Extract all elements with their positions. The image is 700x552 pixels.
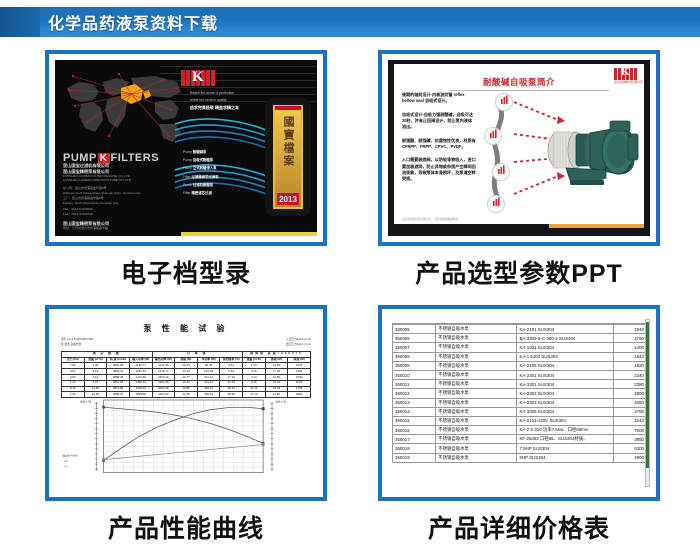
cell-price: 4760 <box>613 334 646 343</box>
cell-code: 360019 <box>393 453 436 462</box>
cell-price: 2800 <box>613 389 646 398</box>
cell-model: KA-2 5-310 功率7.5kw、口径65mm <box>517 426 614 435</box>
cell-model: KA-1001 SUS304 <box>517 343 614 352</box>
slogan-en-2: refine our service quality <box>190 97 239 104</box>
ppt-paragraph: 後期的轴封设计-内装波纹管 reflex bellow seal 自吸式设计。 <box>402 92 476 105</box>
cell-model: KA-3301 SUS304 <box>517 380 614 389</box>
cell-desc: 不锈钢自吸水泵 <box>436 380 517 389</box>
catalog-slogan: Reach the acme of perfection refine our … <box>190 90 239 113</box>
cell-price: 2240 <box>613 370 646 379</box>
slogan-en-1: Reach the acme of perfection <box>190 90 239 97</box>
list-item: Filter 精密滤芯过滤 <box>183 189 219 197</box>
cell-code: 360008 <box>393 352 436 361</box>
table-row[interactable]: 360016不锈钢自吸水泵KA-2 5-310 功率7.5kw、口径65mm70… <box>393 426 647 435</box>
price-sheet: 360005不锈钢自吸水泵KA-2101 SUS3042240360006不锈钢… <box>388 315 650 491</box>
banner-title: 國寶檔案 <box>280 116 296 168</box>
svg-text:扬程 H (M): 扬程 H (M) <box>80 400 91 404</box>
table-row[interactable]: 360012不锈钢自吸水泵KA-3302 SUS3042800 <box>393 389 647 398</box>
slogan-cn: 追求完美极致 精益求精之本 <box>190 105 239 110</box>
cell-model: KA-1 5103 SUS304 <box>517 352 614 361</box>
cell-code: 360012 <box>393 389 436 398</box>
cell-price: 4760 <box>613 407 646 416</box>
performance-report: 泵 性 能 试 验 型号 KA-2 5-310/100-7500 泵 型式 自吸… <box>55 315 317 491</box>
cell-price: 3950 <box>613 435 646 444</box>
curve-frame: 泵 性 能 试 验 型号 KA-2 5-310/100-7500 泵 型式 自吸… <box>45 305 327 501</box>
cell-code: 360013 <box>393 398 436 407</box>
caption-price: 产品详细价格表 <box>378 509 660 545</box>
cell-price: 1400 <box>613 343 646 352</box>
bottom-stripe <box>55 232 317 236</box>
table-row[interactable]: 360015不锈钢自吸水泵KA-2101-220V SUS3042240 <box>393 416 647 425</box>
award-banner: 國寶檔案 2013 <box>265 98 311 216</box>
ppt-text-blocks: 後期的轴封设计-内装波纹管 reflex bellow seal 自吸式设计。 … <box>402 92 476 190</box>
cell-model: KA-3305 SUS304 <box>517 407 614 416</box>
banner-top-bar <box>275 106 301 110</box>
cell-model: KA-3303 SUS304 <box>517 398 614 407</box>
table-row[interactable]: 360014不锈钢自吸水泵KA-3305 SUS3044760 <box>393 407 647 416</box>
performance-chart: 扬程 H (M)效率 η (%)轴功率 P (kW)kWHP <box>61 391 311 487</box>
catalog-company-en-2: KUNSHAN GUOBAO PRECISION PUMP CO.,LTD <box>63 178 131 184</box>
cell-desc: 不锈钢自吸水泵 <box>436 453 517 462</box>
catalog-bullet-list: Pump 耐酸碱泵 Pump 自吸式耐酸泵 Pump 立式耐酸浸入泵 Filte… <box>183 148 219 197</box>
cell-desc: 不锈钢自吸水泵 <box>436 325 517 334</box>
svg-text:效率 η (%): 效率 η (%) <box>276 400 287 404</box>
table-row[interactable]: 360011不锈钢自吸水泵KA-3301 SUS3042380 <box>393 380 647 389</box>
cell-code: 360018 <box>393 444 436 453</box>
table-row[interactable]: 360010不锈钢自吸水泵KA-2301 SUS3042240 <box>393 370 647 379</box>
cell-price: 7000 <box>613 426 646 435</box>
cell-model: 5HP SUS304 <box>517 453 614 462</box>
price-table-body: 360005不锈钢自吸水泵KA-2101 SUS3042240360006不锈钢… <box>393 325 647 463</box>
banner-inner: 國寶檔案 2013 <box>273 105 303 209</box>
table-row[interactable]: 360019不锈钢自吸水泵5HP SUS3044900 <box>393 453 647 462</box>
cell-model: KA-2101 SUS304 <box>517 325 614 334</box>
ppt-footer: 昆山国宝精密泵有限公司 ｜ 专业制造耐酸碱泵浦 <box>402 217 458 221</box>
scrollbar[interactable] <box>645 319 650 487</box>
cell-desc: 不锈钢自吸水泵 <box>436 370 517 379</box>
cell-desc: 不锈钢自吸水泵 <box>436 416 517 425</box>
cell-price: 4060 <box>613 398 646 407</box>
catalog-addr-en-2: Factory: No.8 Jinhua Road, Kunshan City <box>63 201 118 207</box>
cell-code: 360014 <box>393 407 436 416</box>
svg-text:轴功率 P (kW): 轴功率 P (kW) <box>63 454 78 458</box>
cell-desc: 不锈钢自吸水泵 <box>436 361 517 370</box>
ppt-bottom-stripe <box>394 224 644 228</box>
page-title: 化学品药液泵资料下载 <box>48 10 218 34</box>
cell-code: 360010 <box>393 370 436 379</box>
cell-desc: 不锈钢自吸水泵 <box>436 398 517 407</box>
cell-model: KF-25303 口径65、SUS304材质。 <box>517 435 614 444</box>
logo-letter: K <box>192 69 204 86</box>
cell-desc: 不锈钢自吸水泵 <box>436 343 517 352</box>
cell-desc: 不锈钢自吸水泵 <box>436 426 517 435</box>
cell-code: 360009 <box>393 361 436 370</box>
company-logo-icon: K <box>181 70 221 90</box>
cell-desc: 不锈钢自吸水泵 <box>436 407 517 416</box>
table-row[interactable]: 360013不锈钢自吸水泵KA-3303 SUS3044060 <box>393 398 647 407</box>
ppt-title: 耐酸碱自吸泵简介 <box>394 76 644 88</box>
cell-price: 2380 <box>613 380 646 389</box>
report-meta: 型号 KA-2 5-310/100-7500 泵 型式 自吸式泵 入口压力(kg… <box>61 338 311 348</box>
cell-code: 360006 <box>393 334 436 343</box>
svg-text:kW: kW <box>65 461 69 463</box>
cell-price: 2240 <box>613 416 646 425</box>
table-row[interactable]: 360006不锈钢自吸水泵BA-3305-5-C-380-4 SUS304476… <box>393 334 647 343</box>
meta-left: 型号 KA-2 5-310/100-7500 泵 型式 自吸式泵 <box>61 338 93 348</box>
scrollbar-thumb[interactable] <box>646 322 649 468</box>
ppt-slide: K 昆山国宝精密泵有限公司 耐酸碱自吸泵简介 後期的轴封设计-内装波纹管 ref… <box>394 64 644 228</box>
cell-desc: 不锈钢自吸水泵 <box>436 334 517 343</box>
cell-code: 360016 <box>393 426 436 435</box>
table-row[interactable]: 360008不锈钢自吸水泵KA-1 5103 SUS3041540 <box>393 352 647 361</box>
cell-price: 1820 <box>613 361 646 370</box>
cell-desc: 不锈钢自吸水泵 <box>436 389 517 398</box>
ppt-frame: K 昆山国宝精密泵有限公司 耐酸碱自吸泵简介 後期的轴封设计-内装波纹管 ref… <box>378 50 660 246</box>
cell-code: 360007 <box>393 343 436 352</box>
meta-type: 泵 型式 自吸式泵 <box>61 343 93 348</box>
panel-catalog[interactable]: PUMPKFILTERS 昆山国宝过滤机有限公司 昆山国宝精密泵有限公司 KUN… <box>45 50 355 290</box>
cell-model: BA-3305-5-C-380-4 SUS304 <box>517 334 614 343</box>
report-title: 泵 性 能 试 验 <box>61 323 311 334</box>
list-item: Filter 过滤器滤芯过滤机 <box>183 173 219 181</box>
table-row[interactable]: 360007不锈钢自吸水泵KA-1001 SUS3041400 <box>393 343 647 352</box>
meta-right: 入口压力(kg/cm²) n/a 出口压力(kg/cm²) n/a <box>286 338 311 348</box>
panel-price[interactable]: 360005不锈钢自吸水泵KA-2101 SUS3042240360006不锈钢… <box>378 305 688 545</box>
panel-ppt[interactable]: K 昆山国宝精密泵有限公司 耐酸碱自吸泵简介 後期的轴封设计-内装波纹管 ref… <box>378 50 688 290</box>
table-row[interactable]: 360017不锈钢自吸水泵KF-25303 口径65、SUS304材质。3950 <box>393 435 647 444</box>
banner-year: 2013 <box>277 193 299 205</box>
table-row[interactable]: 360009不锈钢自吸水泵KA-2105 SUS3041820 <box>393 361 647 370</box>
catalog-frame: PUMPKFILTERS 昆山国宝过滤机有限公司 昆山国宝精密泵有限公司 KUN… <box>45 50 327 246</box>
price-table: 360005不锈钢自吸水泵KA-2101 SUS3042240360006不锈钢… <box>392 324 647 463</box>
cell-model: 7.5HP SUS304 <box>517 444 614 453</box>
ppt-image: K 昆山国宝精密泵有限公司 耐酸碱自吸泵简介 後期的轴封设计-内装波纹管 ref… <box>388 60 650 236</box>
cell-model: KA-3302 SUS304 <box>517 389 614 398</box>
catalog-fax-1: FAX：0512-57455618 <box>63 212 93 218</box>
table-row[interactable]: 360018不锈钢自吸水泵7.5HP SUS3046300 <box>393 444 647 453</box>
cell-code: 360015 <box>393 416 436 425</box>
cell-code: 360011 <box>393 380 436 389</box>
list-item: Pump 立式耐酸浸入泵 <box>183 164 219 172</box>
page-header: 化学品药液泵资料下载 <box>0 7 700 37</box>
cell-price: 2240 <box>613 325 646 334</box>
cell-model: KA-2105 SUS304 <box>517 361 614 370</box>
list-item: Pump 自吸式耐酸泵 <box>183 156 219 164</box>
caption-ppt: 产品选型参数PPT <box>378 254 660 290</box>
cell-code: 360017 <box>393 435 436 444</box>
list-item: Pump 过滤机耐酸泵 <box>183 181 219 189</box>
cell-code: 360005 <box>393 325 436 334</box>
cell-price: 4900 <box>613 453 646 462</box>
curve-image: 泵 性 能 试 验 型号 KA-2 5-310/100-7500 泵 型式 自吸… <box>55 315 317 491</box>
table-row[interactable]: 360005不锈钢自吸水泵KA-2101 SUS3042240 <box>393 325 647 334</box>
cell-desc: 不锈钢自吸水泵 <box>436 352 517 361</box>
ppt-paragraph: 入口需要装底阀，以防吸导物吸入，进口要加装滤网，防止异物或杂质产生瞬间回流现象，… <box>402 157 476 182</box>
svg-text:HP: HP <box>65 466 69 468</box>
cell-price: 6300 <box>613 444 646 453</box>
cell-model: KA-2301 SUS304 <box>517 370 614 379</box>
cell-model: KA-2101-220V SUS304 <box>517 416 614 425</box>
cell-desc: 不锈钢自吸水泵 <box>436 444 517 453</box>
ppt-chain-icons <box>482 88 516 218</box>
caption-curve: 产品性能曲线 <box>45 509 327 545</box>
panel-grid: PUMPKFILTERS 昆山国宝过滤机有限公司 昆山国宝精密泵有限公司 KUN… <box>0 45 700 552</box>
price-image: 360005不锈钢自吸水泵KA-2101 SUS3042240360006不锈钢… <box>388 315 650 491</box>
caption-catalog: 电子档型录 <box>45 254 327 290</box>
meta-outlet: 出口压力(kg/cm²) n/a <box>286 343 311 348</box>
list-item: Pump 耐酸碱泵 <box>183 148 219 156</box>
catalog-cover: PUMPKFILTERS 昆山国宝过滤机有限公司 昆山国宝精密泵有限公司 KUN… <box>55 60 317 236</box>
ppt-slide-outer: K 昆山国宝精密泵有限公司 耐酸碱自吸泵简介 後期的轴封设计-内装波纹管 ref… <box>388 60 650 236</box>
pump-product-image <box>532 112 642 198</box>
ppt-paragraph: 耐强酸、耐强碱、抗腐蚀性优良，材质有CFRPP、FRPP、CPVC、PVDF。 <box>402 138 476 151</box>
cell-desc: 不锈钢自吸水泵 <box>436 435 517 444</box>
catalog-image: PUMPKFILTERS 昆山国宝过滤机有限公司 昆山国宝精密泵有限公司 KUN… <box>55 60 317 236</box>
cell-price: 1540 <box>613 352 646 361</box>
price-frame: 360005不锈钢自吸水泵KA-2101 SUS3042240360006不锈钢… <box>378 305 660 501</box>
panel-curve[interactable]: 泵 性 能 试 验 型号 KA-2 5-310/100-7500 泵 型式 自吸… <box>45 305 355 545</box>
ppt-paragraph: 自吸式设计-自吸力强耐酸碱，自吸可达20秒，并有止回阀设计，防止泵内液体流出。 <box>402 112 476 131</box>
